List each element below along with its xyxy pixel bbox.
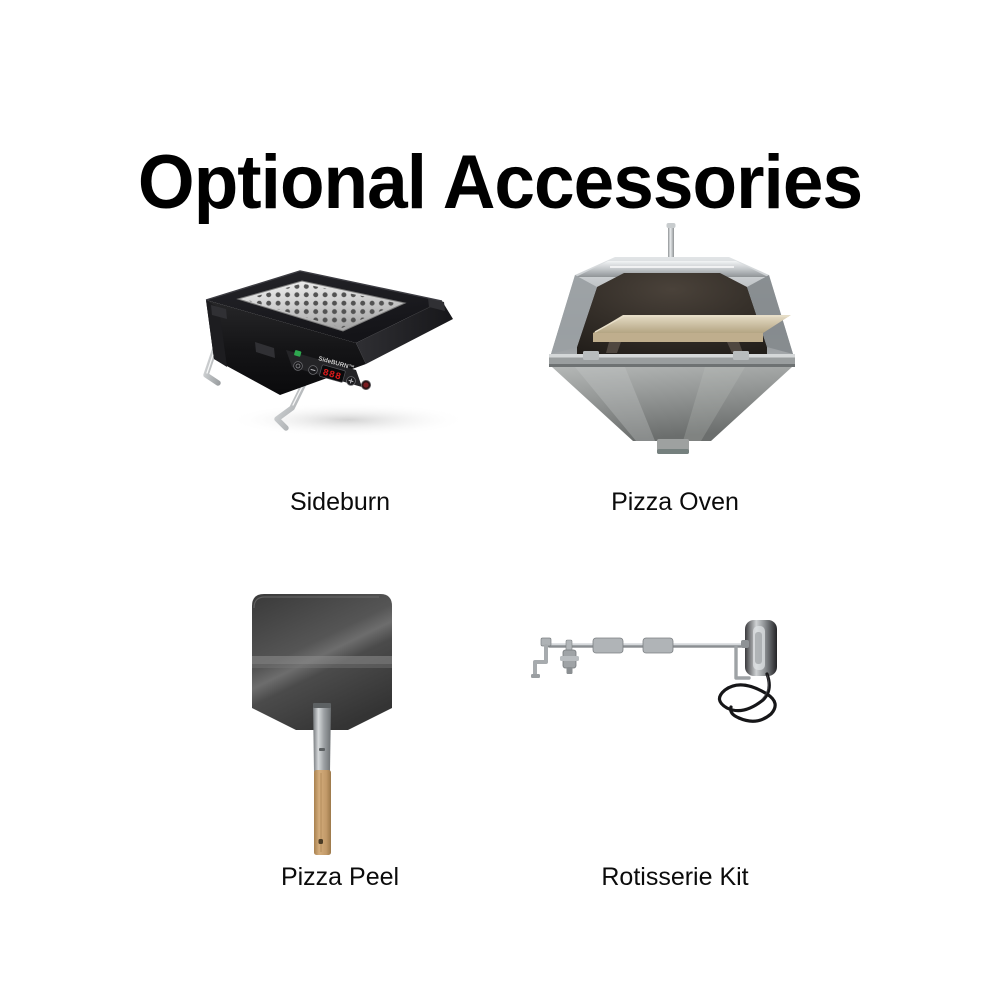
sideburn-shadow xyxy=(228,403,468,437)
pizza-oven-base-collar-shadow xyxy=(657,449,689,454)
product-card-pizza-peel[interactable]: Pizza Peel xyxy=(170,590,510,920)
rotisserie-kit-product-image xyxy=(505,590,845,862)
rotisserie-fork-hub-left xyxy=(593,638,623,653)
product-grid: SideBURN™ xyxy=(0,215,1000,975)
product-card-pizza-oven[interactable]: Pizza Oven xyxy=(505,215,845,545)
pizza-peel-shaft xyxy=(313,704,331,772)
product-label-pizza-peel: Pizza Peel xyxy=(170,862,510,892)
sideburn-ignite-button[interactable] xyxy=(360,379,371,390)
pizza-peel-blade-sheen xyxy=(252,656,392,664)
rotisserie-motor xyxy=(741,620,777,676)
pizza-peel-hang-hole xyxy=(319,839,324,844)
pizza-oven-product-image xyxy=(505,215,845,487)
product-card-rotisserie-kit[interactable]: Rotisserie Kit xyxy=(505,590,845,920)
pizza-oven-stone xyxy=(593,315,791,333)
product-label-sideburn: Sideburn xyxy=(170,487,510,517)
product-label-pizza-oven: Pizza Oven xyxy=(505,487,845,517)
accessories-page: Optional Accessories xyxy=(0,0,1000,1000)
sideburn-product-image: SideBURN™ xyxy=(170,215,510,487)
pizza-peel-blade-sheen-2 xyxy=(252,664,392,668)
rotisserie-power-cord xyxy=(719,674,775,721)
pizza-peel-product-image xyxy=(170,590,510,862)
pizza-oven-flange-shadow xyxy=(549,364,795,367)
pizza-oven-latch-left xyxy=(583,351,599,360)
product-card-sideburn[interactable]: SideBURN™ xyxy=(170,215,510,545)
page-title: Optional Accessories xyxy=(20,145,980,221)
pizza-oven-latch-right xyxy=(733,351,749,360)
pizza-peel-shaft-rivet xyxy=(319,748,325,751)
rotisserie-fork-hub-right xyxy=(643,638,673,653)
rotisserie-mounting-bracket xyxy=(531,638,551,678)
product-label-rotisserie-kit: Rotisserie Kit xyxy=(505,862,845,892)
pizza-oven-stone-edge xyxy=(593,333,763,342)
pizza-peel-shaft-collar xyxy=(313,703,331,708)
